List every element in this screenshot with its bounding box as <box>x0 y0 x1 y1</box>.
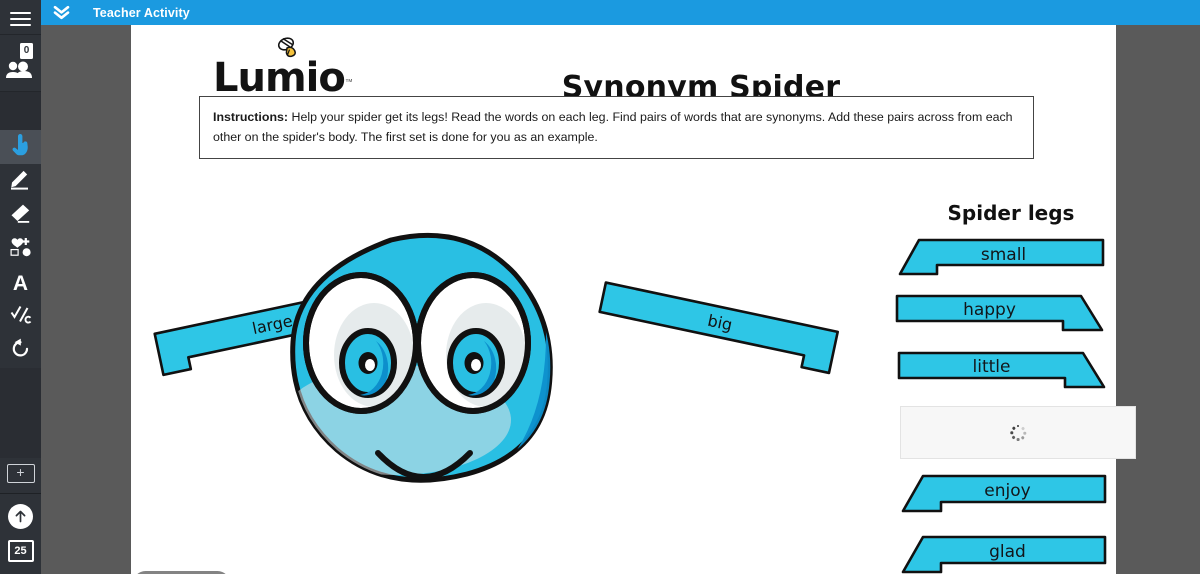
loading-spinner-icon <box>1010 425 1026 441</box>
arrow-up-icon <box>8 504 33 529</box>
spider-legs-heading: Spider legs <box>901 201 1121 225</box>
undo-arrow-icon <box>10 338 31 364</box>
hamburger-line <box>10 24 31 26</box>
hamburger-line <box>10 18 31 20</box>
lumio-app: 0 <box>0 0 1200 574</box>
instructions-text: Help your spider get its legs! Read the … <box>213 110 1013 144</box>
leg-loading-slot[interactable] <box>900 406 1136 459</box>
add-page-button[interactable]: + <box>0 458 41 493</box>
tool-text[interactable]: A <box>0 266 41 300</box>
hand-pointer-icon <box>12 134 29 161</box>
participants-icon <box>5 59 35 84</box>
left-toolbar: 0 <box>0 0 41 574</box>
tool-add-content[interactable] <box>0 232 41 266</box>
spider-eye-right <box>418 275 528 411</box>
leg-card-glad[interactable]: glad <box>899 534 1111 574</box>
sticker-add-icon <box>9 237 32 262</box>
workspace: Lumio™ Synonym Spider Instructions: Help… <box>41 25 1200 574</box>
leg-card-happy[interactable]: happy <box>891 293 1106 333</box>
bee-icon <box>271 36 305 69</box>
add-page-icon: + <box>7 464 35 483</box>
leg-card-little[interactable]: little <box>893 350 1108 390</box>
top-bar: Teacher Activity <box>41 0 1200 25</box>
attached-leg-big: big <box>597 283 838 373</box>
text-a-icon: A <box>13 273 28 294</box>
math-percent-icon <box>10 305 32 330</box>
toolbar-spacer-lower <box>0 368 41 458</box>
page-count-label: 25 <box>8 540 34 562</box>
instructions-label: Instructions: <box>213 110 288 124</box>
hamburger-line <box>10 12 31 14</box>
eraser-icon <box>10 203 32 228</box>
participants-count-badge: 0 <box>20 43 33 59</box>
hamburger-menu-icon[interactable] <box>0 4 41 34</box>
double-chevron-down-icon <box>52 4 71 21</box>
leg-card-enjoy[interactable]: enjoy <box>899 473 1111 515</box>
tool-eraser[interactable] <box>0 198 41 232</box>
page-count-indicator[interactable]: 25 <box>0 529 41 562</box>
instructions-box: Instructions: Help your spider get its l… <box>199 96 1034 159</box>
spider-eye-left <box>306 275 416 411</box>
collapse-toggle-button[interactable] <box>41 4 81 21</box>
toolbar-group-top <box>0 4 41 35</box>
worksheet-canvas[interactable]: Lumio™ Synonym Spider Instructions: Help… <box>131 25 1116 574</box>
toolbar-spacer <box>0 92 41 130</box>
leg-card-small[interactable]: small <box>897 237 1107 277</box>
participants-button[interactable]: 0 <box>0 35 41 92</box>
trademark-symbol: ™ <box>345 78 353 87</box>
next-page-button[interactable] <box>0 562 41 574</box>
prev-page-button[interactable] <box>0 494 41 529</box>
tool-undo[interactable] <box>0 334 41 368</box>
tool-hand-pointer[interactable] <box>0 130 41 164</box>
lumio-logo: Lumio™ <box>213 58 353 98</box>
tool-math[interactable] <box>0 300 41 334</box>
pencil-icon <box>10 168 31 195</box>
activity-title: Teacher Activity <box>93 6 190 20</box>
tool-pen[interactable] <box>0 164 41 198</box>
